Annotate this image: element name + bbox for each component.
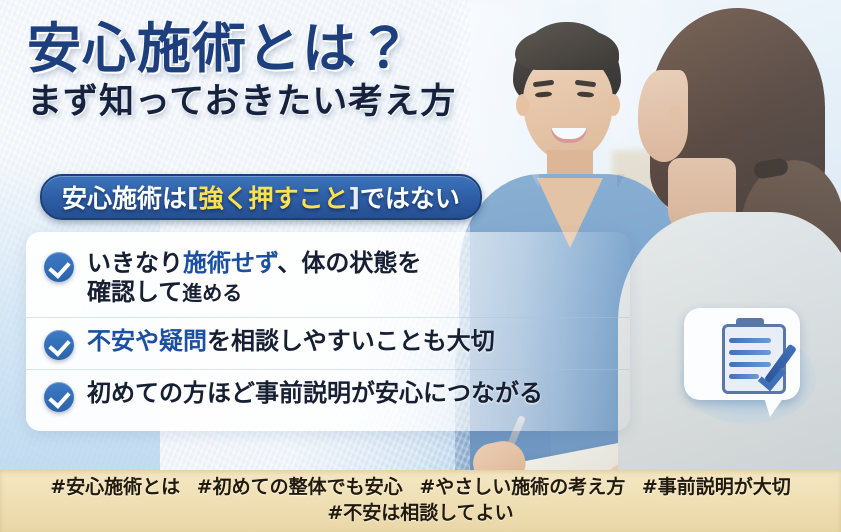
checklist-line-1 <box>729 338 771 343</box>
bullet-3-plain-a: 初めての方ほど事前説明が <box>87 379 375 407</box>
bullet-2-highlight: 不安や疑問 <box>87 327 207 355</box>
bullet-item-3: 初めての方ほど事前説明が安心につながる <box>26 369 630 421</box>
bullet-text-2: 不安や疑問を相談しやすいことも大切 <box>87 327 495 356</box>
hashtag-5: #不安は相談してよい <box>327 501 513 527</box>
check-circle-icon <box>44 382 74 412</box>
speech-bubble-badge <box>672 306 822 428</box>
hashtag-footer: #安心施術とは #初めての整体でも安心 #やさしい施術の考え方 #事前説明が大切… <box>0 470 841 532</box>
bullet-text-3: 初めての方ほど事前説明が安心につながる <box>87 379 543 408</box>
checklist-line-2 <box>729 350 771 355</box>
headline-block: 安心施術とは？ まず知っておきたい考え方 <box>27 22 547 120</box>
pill-suffix: ではない <box>360 179 460 215</box>
checklist-line-3 <box>729 362 771 367</box>
bullet-1-plain-b: 、体の状態を <box>277 249 421 277</box>
check-circle-icon <box>44 330 74 360</box>
hashtag-list: #安心施術とは #初めての整体でも安心 #やさしい施術の考え方 #事前説明が大切… <box>26 475 816 526</box>
bullet-1-plain-a: いきなり <box>87 249 183 277</box>
bullet-card: いきなり施術せず、体の状態を 確認して進める 不安や疑問を相談しやすいことも大切… <box>26 232 630 431</box>
bullet-1-line2-small: 進める <box>182 281 242 305</box>
hashtag-4: #事前説明が大切 <box>642 475 791 501</box>
infographic-banner: 安心施術とは？ まず知っておきたい考え方 安心施術は [ 強く押すこと ] では… <box>0 0 841 532</box>
bullet-item-1: いきなり施術せず、体の状態を 確認して進める <box>26 240 630 317</box>
statement-pill: 安心施術は [ 強く押すこと ] ではない <box>40 174 482 220</box>
pill-prefix: 安心施術は <box>62 179 187 215</box>
speech-bubble <box>684 308 800 400</box>
bullet-3-plain-b: 安心につながる <box>375 379 543 407</box>
hashtag-2: #初めての整体でも安心 <box>197 475 403 501</box>
hashtag-3: #やさしい施術の考え方 <box>419 475 625 501</box>
bullet-text-1: いきなり施術せず、体の状態を 確認して進める <box>87 249 421 308</box>
bullet-2-plain-b: を相談しやすいことも大切 <box>207 327 495 355</box>
checklist-line-4 <box>729 374 759 379</box>
check-circle-icon <box>44 252 74 282</box>
bullet-1-line2: 確認して進める <box>87 278 421 307</box>
bullet-1-highlight: 施術せず <box>183 249 277 277</box>
bullet-1-line2-plain: 確認して <box>87 278 182 306</box>
page-subtitle: まず知っておきたい考え方 <box>27 85 547 120</box>
pill-bracket-close: ] <box>348 183 359 212</box>
hashtag-1: #安心施術とは <box>50 475 180 501</box>
bullet-item-2: 不安や疑問を相談しやすいことも大切 <box>26 317 630 369</box>
page-title: 安心施術とは？ <box>27 22 547 76</box>
pill-bracket-open: [ <box>187 183 198 212</box>
pill-highlight: 強く押すこと <box>198 179 348 215</box>
